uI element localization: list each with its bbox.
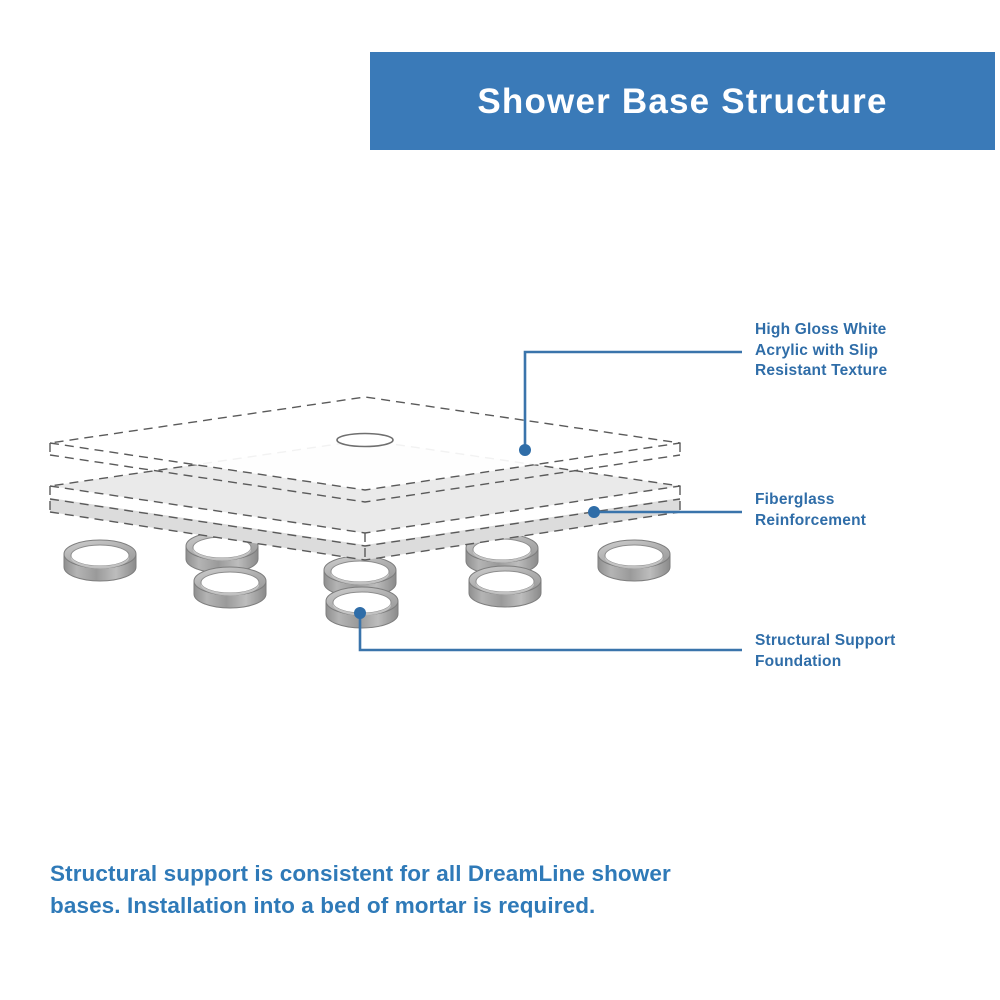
callout-dot-fiberglass [588, 506, 600, 518]
diagram-page: Shower Base Structure [0, 0, 1000, 1000]
callout-label-fiberglass: Fiberglass Reinforcement [755, 490, 990, 531]
callout-label-support: Structural Support Foundation [755, 631, 990, 672]
callout-dot-support [354, 607, 366, 619]
support-ring [598, 540, 670, 581]
callout-label-acrylic: High Gloss White Acrylic with Slip Resis… [755, 320, 990, 382]
support-ring [469, 566, 541, 607]
support-ring [194, 567, 266, 608]
footer-caption: Structural support is consistent for all… [50, 858, 690, 922]
support-ring [64, 540, 136, 581]
drain-opening-icon [337, 434, 393, 447]
callout-dot-acrylic [519, 444, 531, 456]
leader-line-support [360, 613, 742, 650]
